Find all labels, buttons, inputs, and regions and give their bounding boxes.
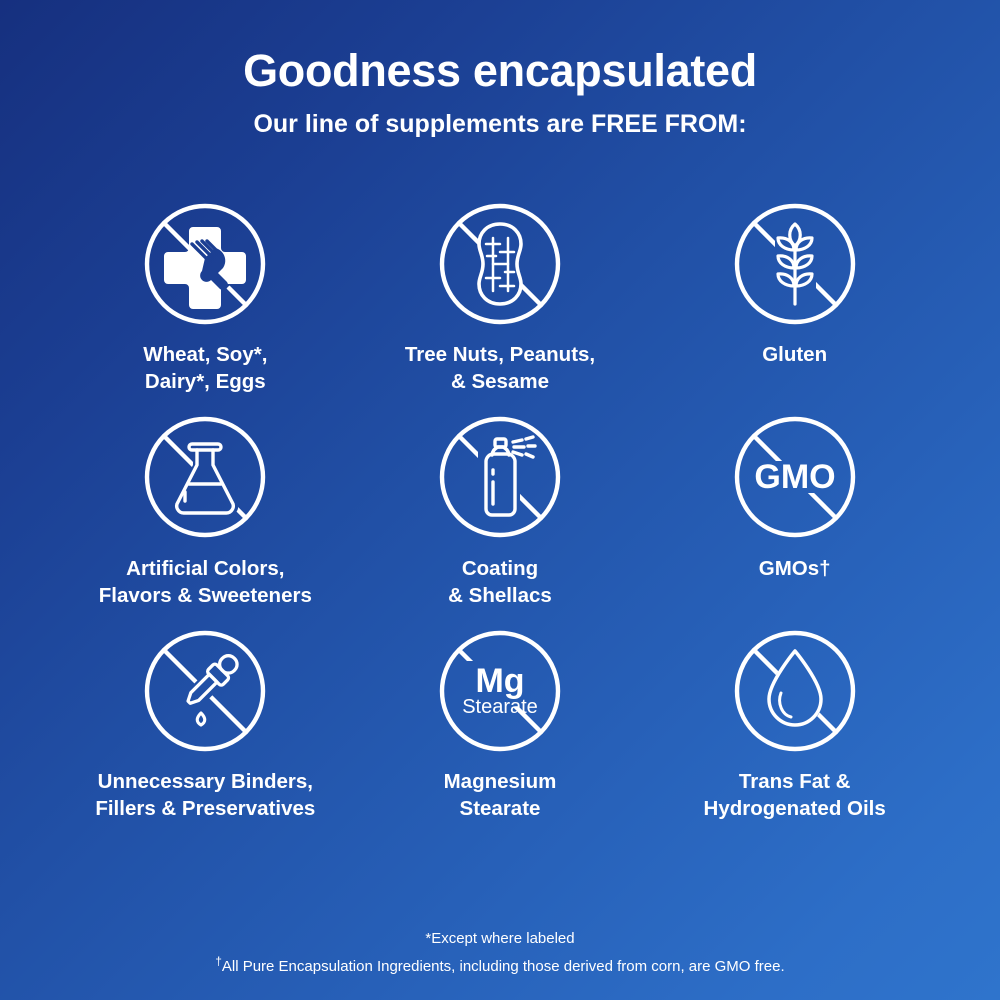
grid-item-caption: Wheat, Soy*, Dairy*, Eggs <box>143 341 267 395</box>
no-dropper-pipette-icon <box>141 627 269 755</box>
grid-item-caption: Unnecessary Binders, Fillers & Preservat… <box>95 768 315 822</box>
footnote-except-where-labeled: *Except where labeled <box>0 928 1000 951</box>
no-magnesium-stearate-icon: Mg Stearate <box>436 627 564 755</box>
grid-item-binders: Unnecessary Binders, Fillers & Preservat… <box>58 627 353 822</box>
gmo-icon-label: GMO <box>754 458 835 496</box>
grid-item-coating: Coating & Shellacs <box>353 413 648 609</box>
no-spray-can-icon <box>436 413 564 541</box>
grid-item-artificial-colors: Artificial Colors, Flavors & Sweeteners <box>58 413 353 609</box>
header: Goodness encapsulated Our line of supple… <box>0 46 1000 139</box>
grid-item-caption: Gluten <box>762 341 827 395</box>
grid-item-caption: Tree Nuts, Peanuts, & Sesame <box>405 341 595 395</box>
footnote-gmo-free: †All Pure Encapsulation Ingredients, inc… <box>0 953 1000 979</box>
footnote-gmo-free-text: All Pure Encapsulation Ingredients, incl… <box>222 958 785 975</box>
footnotes: *Except where labeled †All Pure Encapsul… <box>0 928 1000 978</box>
page-title: Goodness encapsulated <box>0 46 1000 96</box>
no-peanut-icon <box>436 200 564 328</box>
no-erlenmeyer-flask-icon <box>141 413 269 541</box>
grid-item-nuts: Tree Nuts, Peanuts, & Sesame <box>353 200 648 395</box>
grid-item-caption: Trans Fat & Hydrogenated Oils <box>704 768 886 822</box>
stearate-icon-label: Stearate <box>462 696 538 718</box>
no-allergen-cross-fork-icon <box>141 200 269 328</box>
no-gmo-icon: GMO <box>731 413 859 541</box>
poster-root: Goodness encapsulated Our line of supple… <box>0 0 1000 1000</box>
grid-item-caption: GMOs† <box>759 555 831 609</box>
grid-item-trans-fat: Trans Fat & Hydrogenated Oils <box>647 627 942 822</box>
no-oil-droplet-icon <box>731 627 859 755</box>
no-wheat-stalk-icon <box>731 200 859 328</box>
free-from-grid: Wheat, Soy*, Dairy*, Eggs <box>58 200 942 822</box>
page-subtitle: Our line of supplements are FREE FROM: <box>0 109 1000 139</box>
grid-item-gluten: Gluten <box>647 200 942 395</box>
mg-icon-label: Mg <box>475 662 524 700</box>
grid-item-magnesium-stearate: Mg Stearate Magnesium Stearate <box>353 627 648 822</box>
grid-item-caption: Magnesium Stearate <box>444 768 557 822</box>
grid-item-allergens: Wheat, Soy*, Dairy*, Eggs <box>58 200 353 395</box>
grid-item-caption: Coating & Shellacs <box>448 555 552 609</box>
grid-item-caption: Artificial Colors, Flavors & Sweeteners <box>99 555 312 609</box>
grid-item-gmo: GMO GMOs† <box>647 413 942 609</box>
